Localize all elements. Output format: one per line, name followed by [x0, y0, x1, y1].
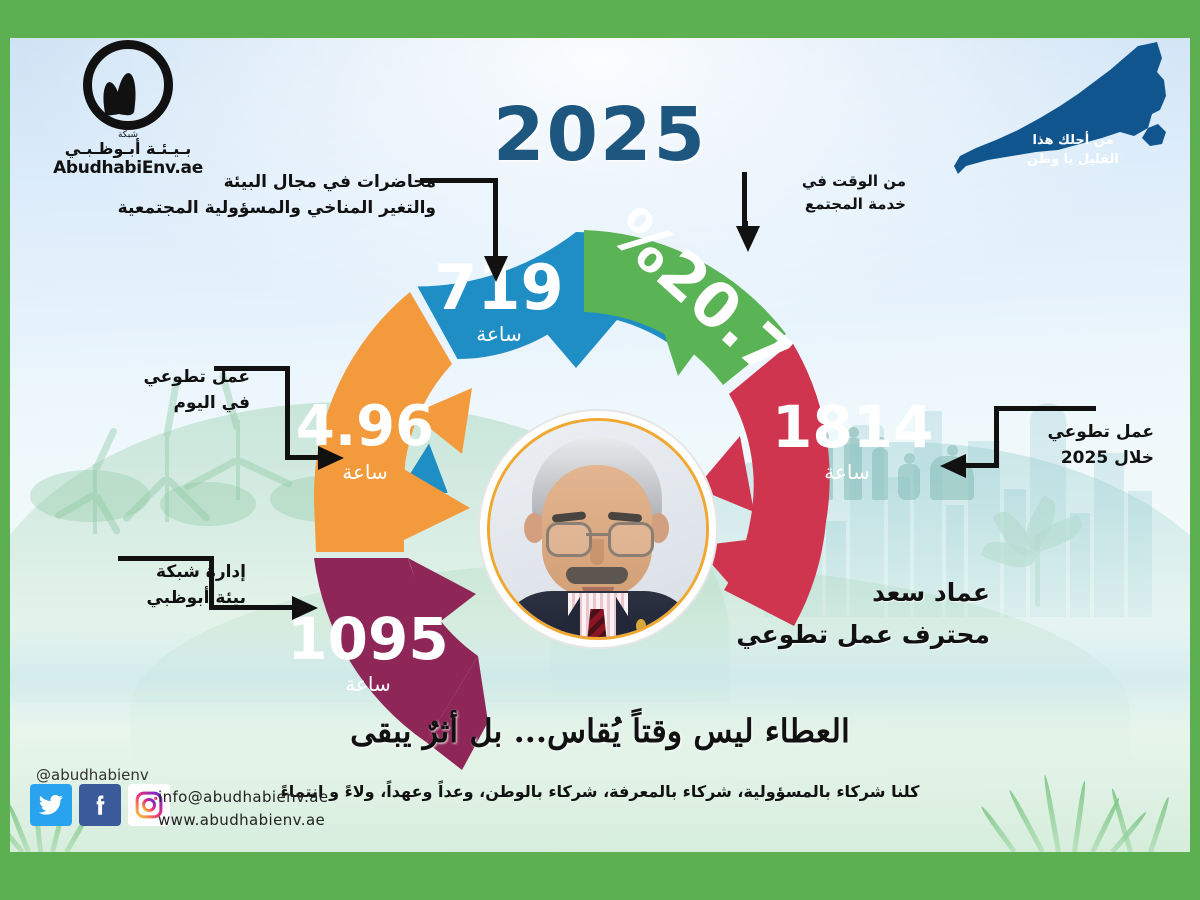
twitter-icon[interactable] — [30, 784, 72, 826]
callout-daily-line1: عمل تطوعي — [118, 365, 250, 391]
unit-1095: ساعة — [283, 672, 453, 696]
lapel-pin-icon — [636, 619, 646, 633]
callout-network-line1: إدارة شبكة — [96, 560, 246, 586]
callout-lectures: محاضرات في مجال البيئة والتغير المناخي و… — [96, 170, 436, 221]
contact-email[interactable]: info@abudhabienv.ae — [158, 786, 329, 809]
callout-2025-line2: خلال 2025 — [1006, 446, 1154, 472]
callout-lectures-line1: محاضرات في مجال البيئة — [96, 170, 436, 196]
glasses-icon — [608, 522, 654, 557]
infographic-poster: شبكة بـيـئـة أبـوظـبـي AbudhabiEnv.ae من… — [0, 0, 1200, 900]
person-role: محترف عمل تطوعي — [736, 620, 990, 649]
callout-community-percent: من الوقت في خدمة المجتمع — [756, 170, 906, 215]
frame-right — [1190, 0, 1200, 900]
contact-info: info@abudhabienv.ae www.abudhabienv.ae — [158, 786, 329, 833]
callout-network-management: إدارة شبكة بيئة أبوظبي — [96, 560, 246, 611]
frame-top — [0, 0, 1200, 38]
callout-daily-volunteering: عمل تطوعي في اليوم — [118, 365, 250, 416]
social-links[interactable] — [30, 784, 170, 826]
donut-segment-volunteer-2025[interactable] — [696, 342, 830, 626]
callout-2025-line1: عمل تطوعي — [1006, 420, 1154, 446]
slogan-text: العطاء ليس وقتاً يُقاس... بل أثرٌ يبقى — [0, 712, 1200, 750]
page-title-year: 2025 — [0, 92, 1200, 178]
unit-1814: ساعة — [772, 460, 922, 484]
callout-community-line2: خدمة المجتمع — [756, 193, 906, 216]
segment-value-volunteer-2025: 1814 ساعة — [772, 400, 922, 484]
callout-daily-line2: في اليوم — [118, 391, 250, 417]
unit-719: ساعة — [434, 322, 564, 346]
value-1814: 1814 — [772, 400, 922, 456]
callout-community-line1: من الوقت في — [756, 170, 906, 193]
frame-left — [0, 0, 10, 900]
contact-website[interactable]: www.abudhabienv.ae — [158, 809, 329, 832]
social-handle: @abudhabienv — [36, 766, 149, 784]
leader-line-2025 — [906, 406, 1016, 486]
avatar — [487, 418, 709, 640]
callout-network-line2: بيئة أبوظبي — [96, 586, 246, 612]
callout-volunteer-2025: عمل تطوعي خلال 2025 — [1006, 420, 1154, 471]
glasses-icon — [546, 522, 592, 557]
frame-bottom — [0, 852, 1200, 900]
person-name: عماد سعد — [872, 578, 990, 607]
facebook-icon[interactable] — [79, 784, 121, 826]
callout-lectures-line2: والتغير المناخي والمسؤولية المجتمعية — [96, 196, 436, 222]
